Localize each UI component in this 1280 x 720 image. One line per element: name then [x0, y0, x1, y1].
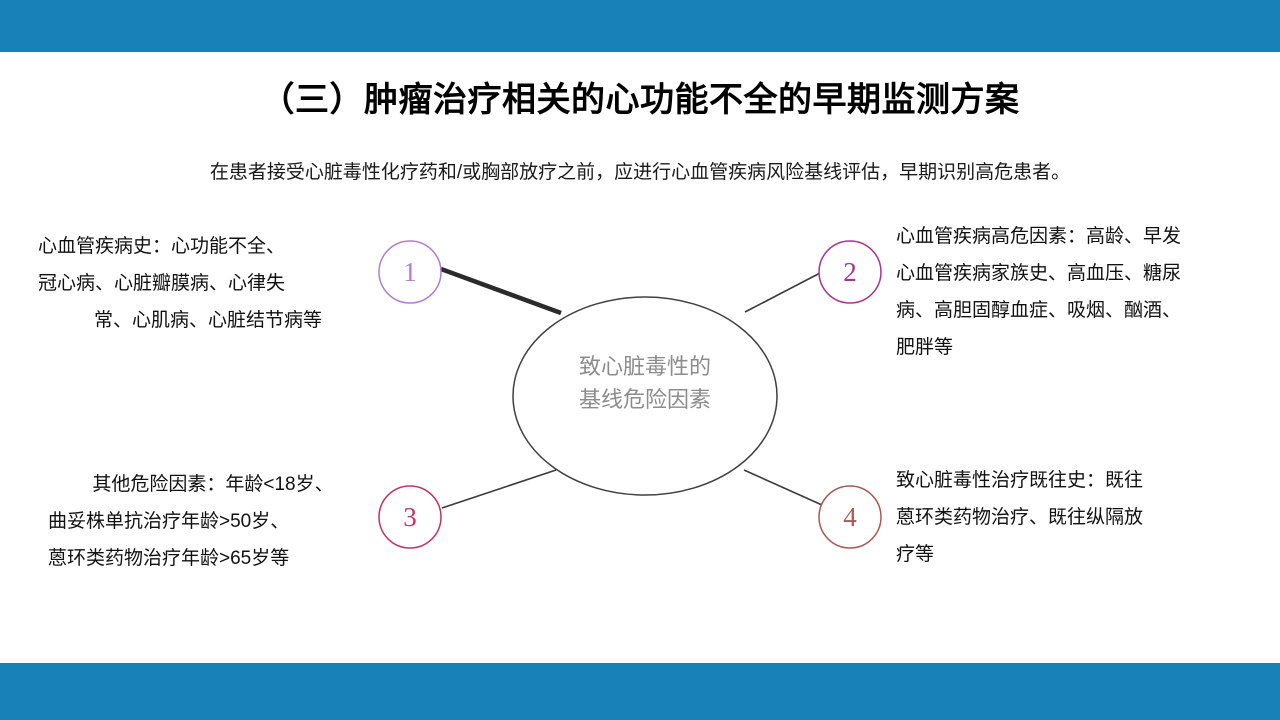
node-text-3: 其他危险因素：年龄<18岁、 曲妥株单抗治疗年龄>50岁、 蒽环类药物治疗年龄>…	[48, 466, 378, 577]
node-text-2-line-4: 肥胖等	[896, 329, 1246, 366]
node-text-1-line-1: 心血管疾病史：心功能不全、	[38, 228, 378, 265]
connector-line-4	[744, 470, 822, 505]
node-text-2: 心血管疾病高危因素：高龄、早发 心血管疾病家族史、高血压、糖尿 病、高胆固醇血症…	[896, 218, 1246, 366]
node-text-3-line-1: 其他危险因素：年龄<18岁、	[48, 466, 378, 503]
node-text-3-line-3: 蒽环类药物治疗年龄>65岁等	[48, 540, 378, 577]
node-text-1-line-3: 常、心肌病、心脏结节病等	[38, 302, 378, 339]
node-text-2-line-3: 病、高胆固醇血症、吸烟、酗酒、	[896, 292, 1246, 329]
node-number-4[interactable]: 4	[819, 486, 881, 548]
node-text-1-line-2: 冠心病、心脏瓣膜病、心律失	[38, 265, 378, 302]
node-text-4: 致心脏毒性治疗既往史：既往 蒽环类药物治疗、既往纵隔放 疗等	[896, 462, 1226, 573]
node-number-3[interactable]: 3	[379, 486, 441, 548]
center-ellipse	[513, 297, 777, 495]
node-text-2-line-2: 心血管疾病家族史、高血压、糖尿	[896, 255, 1246, 292]
connector-line-3	[442, 470, 556, 508]
node-text-4-line-1: 致心脏毒性治疗既往史：既往	[896, 462, 1226, 499]
connector-line-2	[745, 272, 822, 312]
node-text-1: 心血管疾病史：心功能不全、 冠心病、心脏瓣膜病、心律失 常、心肌病、心脏结节病等	[38, 228, 378, 339]
node-text-4-line-2: 蒽环类药物治疗、既往纵隔放	[896, 499, 1226, 536]
slide-canvas: （三）肿瘤治疗相关的心功能不全的早期监测方案 在患者接受心脏毒性化疗药和/或胸部…	[0, 0, 1280, 720]
node-number-1[interactable]: 1	[379, 241, 441, 303]
node-text-2-line-1: 心血管疾病高危因素：高龄、早发	[896, 218, 1246, 255]
node-text-3-line-2: 曲妥株单抗治疗年龄>50岁、	[48, 503, 378, 540]
connector-line-1	[441, 269, 561, 313]
node-text-4-line-3: 疗等	[896, 536, 1226, 573]
node-number-2[interactable]: 2	[819, 241, 881, 303]
